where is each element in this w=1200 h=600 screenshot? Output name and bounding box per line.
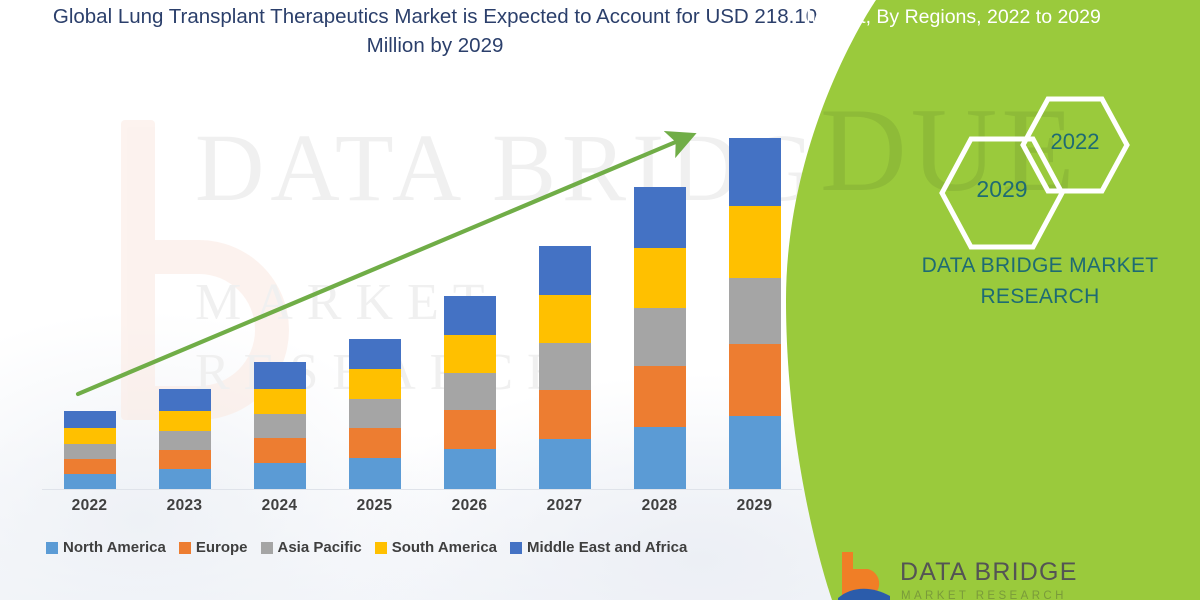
- bar-segment: [349, 399, 401, 428]
- legend-swatch-icon: [46, 542, 58, 554]
- stacked-bar: [349, 339, 401, 489]
- stacked-bar: [64, 411, 116, 489]
- x-axis-label-2028: 2028: [615, 497, 705, 515]
- bar-segment: [349, 339, 401, 369]
- stacked-bar: [254, 362, 306, 489]
- legend-swatch-icon: [179, 542, 191, 554]
- x-axis-label-2026: 2026: [425, 497, 515, 515]
- bar-segment: [539, 439, 591, 489]
- bar-segment: [444, 410, 496, 449]
- bar-segment: [634, 187, 686, 248]
- bar-segment: [634, 427, 686, 489]
- chart-baseline: [42, 489, 802, 490]
- x-axis-label-2027: 2027: [520, 497, 610, 515]
- bar-segment: [64, 428, 116, 444]
- bar-segment: [729, 206, 781, 278]
- legend-label: Europe: [196, 539, 248, 556]
- bar-segment: [64, 459, 116, 474]
- legend-swatch-icon: [375, 542, 387, 554]
- bar-segment: [254, 389, 306, 414]
- stacked-bar-chart: [42, 110, 802, 490]
- bar-segment: [539, 343, 591, 390]
- legend-item[interactable]: South America: [375, 539, 497, 556]
- bar-segment: [444, 335, 496, 373]
- legend-label: South America: [392, 539, 497, 556]
- brand-line-1: DATA BRIDGE MARKET: [880, 250, 1200, 281]
- bar-column-2024: [235, 111, 325, 489]
- legend-swatch-icon: [261, 542, 273, 554]
- bar-segment: [159, 450, 211, 469]
- bar-segment: [539, 390, 591, 439]
- legend-item[interactable]: Europe: [179, 539, 248, 556]
- page-title: Global Lung Transplant Therapeutics Mark…: [40, 2, 830, 60]
- bar-segment: [159, 411, 211, 431]
- bar-group: [42, 111, 802, 489]
- bar-segment: [539, 295, 591, 343]
- stacked-bar: [539, 246, 591, 489]
- bar-segment: [159, 469, 211, 489]
- bar-column-2026: [425, 111, 515, 489]
- footer-logo-name: DATA BRIDGE: [900, 558, 1078, 587]
- stacked-bar: [634, 187, 686, 489]
- x-axis-label-2029: 2029: [710, 497, 800, 515]
- bar-segment: [254, 362, 306, 389]
- bar-segment: [159, 389, 211, 411]
- stacked-bar: [159, 389, 211, 489]
- legend-item[interactable]: Middle East and Africa: [510, 539, 687, 556]
- bar-segment: [444, 296, 496, 335]
- bar-segment: [634, 366, 686, 427]
- brand-name: DATA BRIDGE MARKET RESEARCH: [880, 250, 1200, 312]
- bar-segment: [444, 373, 496, 410]
- bar-segment: [349, 369, 401, 399]
- panel-subtitle: Market, By Regions, 2022 to 2029: [806, 4, 1182, 30]
- hexagon-badges: 2022 2029: [920, 95, 1180, 245]
- bar-segment: [634, 248, 686, 308]
- legend-label: Asia Pacific: [278, 539, 362, 556]
- bar-segment: [254, 414, 306, 438]
- legend-item[interactable]: North America: [46, 539, 166, 556]
- bar-segment: [634, 308, 686, 366]
- bar-segment: [64, 411, 116, 428]
- bar-column-2028: [615, 111, 705, 489]
- bar-column-2022: [45, 111, 135, 489]
- stacked-bar: [444, 296, 496, 489]
- x-axis-label-2023: 2023: [140, 497, 230, 515]
- bar-segment: [729, 344, 781, 416]
- chart-legend: North AmericaEuropeAsia PacificSouth Ame…: [46, 539, 806, 556]
- legend-item[interactable]: Asia Pacific: [261, 539, 362, 556]
- bar-segment: [349, 458, 401, 489]
- x-axis-label-2022: 2022: [45, 497, 135, 515]
- brand-line-2: RESEARCH: [880, 281, 1200, 312]
- footer-logo: DATA BRIDGE MARKET RESEARCH: [838, 552, 1098, 600]
- bar-segment: [729, 278, 781, 344]
- hexagon-2029-icon: 2029: [938, 135, 1066, 251]
- bar-segment: [729, 138, 781, 206]
- legend-label: Middle East and Africa: [527, 539, 687, 556]
- x-axis-label-2024: 2024: [235, 497, 325, 515]
- bar-segment: [254, 438, 306, 463]
- legend-swatch-icon: [510, 542, 522, 554]
- stacked-bar: [729, 138, 781, 489]
- x-axis-labels: 20222023202420252026202720282029: [42, 497, 802, 515]
- legend-label: North America: [63, 539, 166, 556]
- bar-segment: [64, 474, 116, 489]
- footer-logo-tagline: MARKET RESEARCH: [901, 590, 1067, 600]
- bar-column-2023: [140, 111, 230, 489]
- bar-segment: [729, 416, 781, 489]
- bar-segment: [539, 246, 591, 295]
- bar-segment: [444, 449, 496, 489]
- x-axis-label-2025: 2025: [330, 497, 420, 515]
- bar-segment: [349, 428, 401, 458]
- hexagon-2029-label: 2029: [938, 176, 1066, 203]
- bar-segment: [64, 444, 116, 459]
- infographic-root: DATA BRIDGE MARKET RESEARCH Global Lung …: [0, 0, 1200, 600]
- b-logo-icon: [838, 552, 890, 600]
- bar-column-2025: [330, 111, 420, 489]
- bar-segment: [159, 431, 211, 450]
- bar-column-2027: [520, 111, 610, 489]
- bar-segment: [254, 463, 306, 489]
